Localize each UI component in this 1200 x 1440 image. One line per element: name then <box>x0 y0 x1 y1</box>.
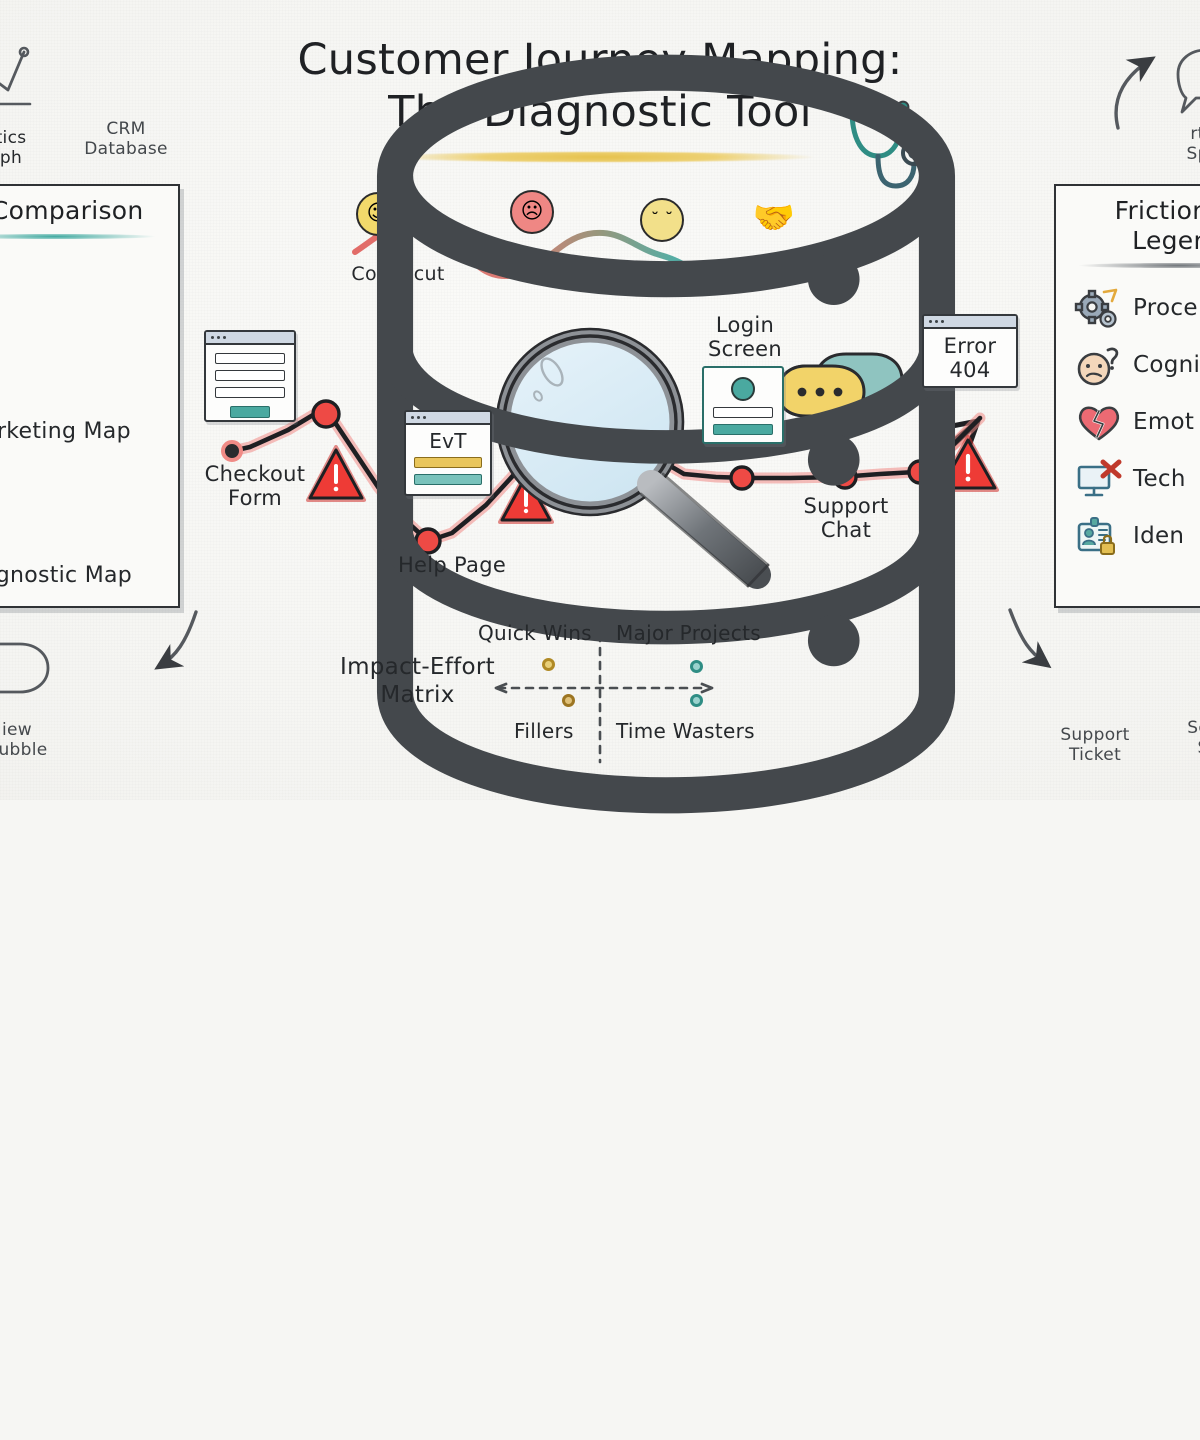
username-field[interactable] <box>713 407 773 418</box>
login-screen-window[interactable] <box>702 366 784 444</box>
error-404-window[interactable]: Error 404 <box>922 314 1018 388</box>
support-ticket-label: Support Ticket <box>1060 725 1129 765</box>
title-underline <box>385 152 815 162</box>
matrix-title: Impact-Effort Matrix <box>310 654 525 709</box>
window-titlebar <box>924 316 1016 329</box>
matrix-label-major-projects: Major Projects <box>616 622 761 644</box>
legend-label-process: Proce <box>1133 296 1198 322</box>
legend-item-technical[interactable]: Tech <box>1056 451 1200 508</box>
touchpoint-label-support-chat: Support Chat <box>786 494 906 543</box>
emotion-face-1: ☹ <box>510 190 554 234</box>
window-titlebar <box>406 412 490 425</box>
legend-item-emotional[interactable]: Emot <box>1056 394 1200 451</box>
emotion-label-0: Confiacut <box>328 264 468 285</box>
panel-rule <box>1078 263 1200 268</box>
smiley-happy-icon: ☺ <box>367 203 390 225</box>
social-share-corner: Soc S <box>1158 698 1200 758</box>
content-block <box>414 474 482 485</box>
page-title: Customer Journey Mapping: The Diagnostic… <box>270 34 930 139</box>
help-page-window[interactable]: EvT <box>404 410 492 496</box>
form-field[interactable] <box>215 387 285 398</box>
analytics-graph-label: tics ph <box>0 128 26 168</box>
emotion-face-2: ˘ ˘ <box>640 198 684 242</box>
friction-legend-title-line1: Friction Ty <box>1056 186 1200 226</box>
crm-database-label: CRM Database <box>84 119 168 159</box>
panel-rule <box>0 234 156 239</box>
matrix-dot-fillers <box>562 694 575 707</box>
smiley-sad-icon: ☹ <box>521 201 544 223</box>
matrix-label-quick-wins: Quick Wins <box>478 622 592 644</box>
matrix-label-fillers: Fillers <box>514 720 574 742</box>
form-field[interactable] <box>215 370 285 381</box>
diagnostic-map-caption: agnostic Map <box>0 564 182 589</box>
broken-heart-icon <box>1076 402 1122 444</box>
touchpoint-label-help-page: Help Page <box>382 553 522 577</box>
avatar <box>731 377 755 401</box>
marketing-map-caption: arketing Map <box>0 420 182 445</box>
social-share-label: Soc S <box>1187 718 1200 758</box>
map-comparison-panel: p Comparison arketing Map agnostic Map <box>0 184 180 608</box>
virtual-speech-corner: rtu Spe <box>1158 104 1200 164</box>
map-comparison-title: p Comparison <box>0 186 178 226</box>
smiley-neutral-icon: ˘ ˘ <box>651 212 673 229</box>
emotion-label-3: Truost <box>726 264 866 285</box>
form-submit-button[interactable] <box>230 406 271 418</box>
legend-item-cognitive[interactable]: Cogni <box>1056 337 1200 394</box>
virtual-speech-label: rtu Spe <box>1187 124 1200 164</box>
review-bubble-label: iew Bubble <box>0 720 48 760</box>
form-field[interactable] <box>215 353 285 364</box>
help-page-window-text: EvT <box>429 431 467 451</box>
touchpoint-label-checkout-form: Checkout Form <box>180 462 330 511</box>
support-ticket-corner: Support Ticket <box>1040 640 1150 765</box>
matrix-label-time-wasters: Time Wasters <box>616 720 755 742</box>
error-404-text: Error 404 <box>924 329 1016 382</box>
emotion-face-0: ☺ <box>356 192 400 236</box>
friction-type-legend-panel: Friction Ty Legend Proce <box>1054 184 1200 608</box>
emotion-curve: ☺ Confiacut ☹ Neo ˘ ˘ Fcer 🤝 Truost <box>352 188 852 304</box>
crm-database-corner: CRM Database <box>66 34 186 159</box>
review-bubble-corner: iew Bubble <box>0 700 72 760</box>
gears-icon <box>1076 288 1122 330</box>
content-block <box>414 457 482 468</box>
matrix-dot-time-wasters <box>690 694 703 707</box>
legend-item-process[interactable]: Proce <box>1056 280 1200 337</box>
legend-label-technical: Tech <box>1133 467 1186 493</box>
touchpoint-label-login-screen: Login Screen <box>690 313 800 362</box>
window-titlebar <box>206 332 294 345</box>
legend-label-emotional: Emot <box>1133 410 1194 436</box>
document-icon <box>1040 660 1150 700</box>
id-badge-lock-icon <box>1076 516 1122 558</box>
matrix-dot-major-projects <box>690 660 703 673</box>
impact-effort-matrix: Impact-Effort Matrix Quick Wins Major Pr… <box>310 612 790 762</box>
emotion-label-1: Neo <box>484 264 624 285</box>
confused-face-icon <box>1076 345 1122 387</box>
friction-legend-title-line2: Legend <box>1056 226 1200 256</box>
login-button[interactable] <box>713 424 773 435</box>
legend-item-identity[interactable]: Iden <box>1056 508 1200 565</box>
database-icon <box>66 54 186 94</box>
legend-label-identity: Iden <box>1133 524 1184 550</box>
handshake-icon: 🤝 <box>752 196 796 240</box>
analytics-graph-corner: tics ph <box>0 108 66 168</box>
legend-label-cognitive: Cogni <box>1133 353 1200 379</box>
monitor-error-icon <box>1076 459 1122 501</box>
matrix-dot-quick-wins <box>542 658 555 671</box>
checkout-form-window[interactable] <box>204 330 296 422</box>
